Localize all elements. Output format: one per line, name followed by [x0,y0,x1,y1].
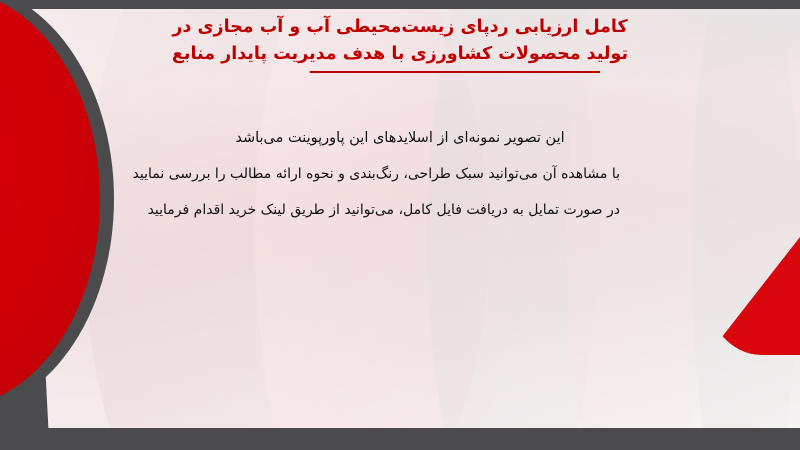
title-underline-rule [310,71,600,73]
slide-title: کامل ارزیابی ردپای زیست‌محیطی آب و آب مج… [170,14,630,68]
slide-body-text: این تصویر نمونه‌ای از اسلایدهای این پاور… [180,120,620,228]
body-line-1: این تصویر نمونه‌ای از اسلایدهای این پاور… [180,120,620,156]
body-line-2: با مشاهده آن می‌توانید سبک طراحی، رنگ‌بن… [180,156,620,192]
slide-title-line-1: کامل ارزیابی ردپای زیست‌محیطی آب و آب مج… [170,14,630,41]
presentation-slide: کامل ارزیابی ردپای زیست‌محیطی آب و آب مج… [0,0,800,450]
slide-title-line-2: تولید محصولات کشاورزی با هدف مدیریت پاید… [170,41,630,68]
body-line-3: در صورت تمایل به دریافت فایل کامل، می‌تو… [180,192,620,228]
